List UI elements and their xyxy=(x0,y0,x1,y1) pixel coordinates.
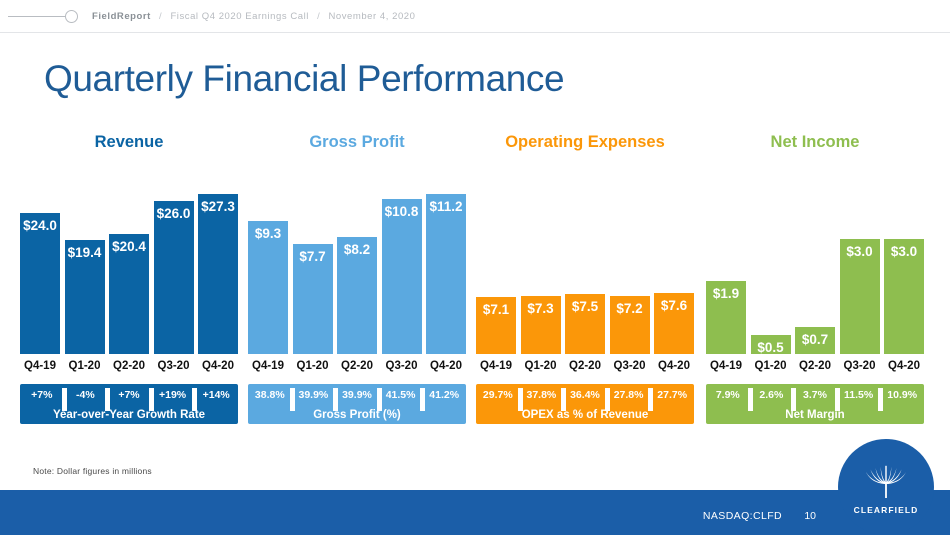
breadcrumb-brand: FieldReport xyxy=(92,11,151,22)
logo-badge: CLEARFIELD xyxy=(838,439,934,535)
x-axis-tick: Q4-20 xyxy=(884,360,924,372)
bar-value-label: $26.0 xyxy=(154,206,194,221)
header-divider xyxy=(0,32,950,33)
bar: $0.7 xyxy=(795,327,835,354)
bar-value-label: $20.4 xyxy=(109,239,149,254)
x-axis-gross-profit: Q4-19Q1-20Q2-20Q3-20Q4-20 xyxy=(248,356,466,376)
bar-value-label: $19.4 xyxy=(65,245,105,260)
x-axis-tick: Q2-20 xyxy=(565,360,605,372)
bar-value-label: $9.3 xyxy=(248,226,288,241)
x-axis-tick: Q3-20 xyxy=(840,360,880,372)
breadcrumb-separator-1: / xyxy=(159,11,162,22)
metric-strip-values-net-income: 7.9%2.6%3.7%11.5%10.9% xyxy=(706,384,924,406)
metric-strip-value: 27.8% xyxy=(607,389,651,401)
bar-value-label: $3.0 xyxy=(884,244,924,259)
bar-value-label: $7.5 xyxy=(565,299,605,314)
metric-strip-value: +14% xyxy=(194,389,238,401)
bar-value-label: $7.6 xyxy=(654,298,694,313)
bar-value-label: $11.2 xyxy=(426,199,466,214)
metric-strip-net-income: 7.9%2.6%3.7%11.5%10.9% Net Margin xyxy=(706,384,924,424)
plot-area-gross-profit: $9.3$7.7$8.2$10.8$11.2 xyxy=(248,178,466,354)
metric-strip-value: 41.5% xyxy=(379,389,423,401)
metric-strip-value: 7.9% xyxy=(706,389,750,401)
bar-column: $26.0 xyxy=(154,178,194,354)
x-axis-tick: Q3-20 xyxy=(382,360,422,372)
metric-strip-value: +7% xyxy=(107,389,151,401)
bar: $10.8 xyxy=(382,199,422,354)
metric-strip-value: 11.5% xyxy=(837,389,881,401)
bar-value-label: $7.1 xyxy=(476,302,516,317)
bar: $0.5 xyxy=(751,335,791,354)
chart-title-gross-profit: Gross Profit xyxy=(248,132,466,158)
bar: $9.3 xyxy=(248,221,288,354)
bar-value-label: $3.0 xyxy=(840,244,880,259)
bar: $27.3 xyxy=(198,194,238,354)
metric-strip-value: 2.6% xyxy=(750,389,794,401)
metric-strip-operating-expenses: 29.7%37.8%36.4%27.8%27.7% OPEX as % of R… xyxy=(476,384,694,424)
metric-strip-values-gross-profit: 38.8%39.9%39.9%41.5%41.2% xyxy=(248,384,466,406)
metric-strip-value: +7% xyxy=(20,389,64,401)
plot-area-operating-expenses: $7.1$7.3$7.5$7.2$7.6 xyxy=(476,178,694,354)
bar-column: $7.6 xyxy=(654,178,694,354)
bar-value-label: $10.8 xyxy=(382,204,422,219)
x-axis-tick: Q4-19 xyxy=(476,360,516,372)
metric-strip-label-net-income: Net Margin xyxy=(706,409,924,421)
chart-panel-net-income: Net Income $1.9$0.5$0.7$3.0$3.0 Q4-19Q1-… xyxy=(706,132,924,437)
footnote: Note: Dollar figures in millions xyxy=(33,466,152,476)
metric-strip-values-revenue: +7%-4%+7%+19%+14% xyxy=(20,384,238,406)
metric-strip-value: +19% xyxy=(151,389,195,401)
bar-column: $0.7 xyxy=(795,178,835,354)
bar: $7.7 xyxy=(293,244,333,354)
bar-value-label: $0.7 xyxy=(795,332,835,347)
clearfield-fan-icon xyxy=(863,465,909,504)
bar: $3.0 xyxy=(840,239,880,354)
bar-column: $3.0 xyxy=(884,178,924,354)
bar: $7.1 xyxy=(476,297,516,354)
slide-header: FieldReport / Fiscal Q4 2020 Earnings Ca… xyxy=(0,0,950,32)
x-axis-tick: Q1-20 xyxy=(293,360,333,372)
bar: $7.6 xyxy=(654,293,694,354)
bar-value-label: $0.5 xyxy=(751,340,791,355)
metric-strip-value: 10.9% xyxy=(880,389,924,401)
breadcrumb-item-event: Fiscal Q4 2020 Earnings Call xyxy=(170,11,308,22)
bar-column: $7.7 xyxy=(293,178,333,354)
header-rule xyxy=(8,16,66,17)
x-axis-tick: Q1-20 xyxy=(65,360,105,372)
clearfield-wordmark: CLEARFIELD xyxy=(838,505,934,515)
metric-strip-label-gross-profit: Gross Profit (%) xyxy=(248,409,466,421)
bar-value-label: $7.2 xyxy=(610,301,650,316)
bar-column: $7.2 xyxy=(610,178,650,354)
metric-strip-label-revenue: Year-over-Year Growth Rate xyxy=(20,409,238,421)
bar-value-label: $8.2 xyxy=(337,242,377,257)
metric-strip-value: 38.8% xyxy=(248,389,292,401)
metric-strip-value: 3.7% xyxy=(793,389,837,401)
x-axis-tick: Q2-20 xyxy=(795,360,835,372)
bar: $26.0 xyxy=(154,201,194,354)
metric-strip-value: 27.7% xyxy=(650,389,694,401)
bar-column: $20.4 xyxy=(109,178,149,354)
x-axis-tick: Q4-19 xyxy=(706,360,746,372)
bar: $7.2 xyxy=(610,296,650,354)
bar-column: $1.9 xyxy=(706,178,746,354)
bar-column: $7.1 xyxy=(476,178,516,354)
metric-strip-values-operating-expenses: 29.7%37.8%36.4%27.8%27.7% xyxy=(476,384,694,406)
x-axis-net-income: Q4-19Q1-20Q2-20Q3-20Q4-20 xyxy=(706,356,924,376)
x-axis-tick: Q2-20 xyxy=(109,360,149,372)
bar: $3.0 xyxy=(884,239,924,354)
bar-column: $27.3 xyxy=(198,178,238,354)
header-circle-icon xyxy=(65,10,78,23)
chart-panel-revenue: Revenue $24.0$19.4$20.4$26.0$27.3 Q4-19Q… xyxy=(20,132,238,437)
page-title: Quarterly Financial Performance xyxy=(44,58,564,100)
x-axis-tick: Q1-20 xyxy=(751,360,791,372)
metric-strip-value: 39.9% xyxy=(292,389,336,401)
bar: $19.4 xyxy=(65,240,105,354)
chart-panel-operating-expenses: Operating Expenses $7.1$7.3$7.5$7.2$7.6 … xyxy=(476,132,694,437)
x-axis-tick: Q4-19 xyxy=(20,360,60,372)
bar-column: $0.5 xyxy=(751,178,791,354)
bar-column: $24.0 xyxy=(20,178,60,354)
bar-column: $19.4 xyxy=(65,178,105,354)
x-axis-tick: Q1-20 xyxy=(521,360,561,372)
metric-strip-value: 36.4% xyxy=(563,389,607,401)
plot-area-net-income: $1.9$0.5$0.7$3.0$3.0 xyxy=(706,178,924,354)
x-axis-revenue: Q4-19Q1-20Q2-20Q3-20Q4-20 xyxy=(20,356,238,376)
x-axis-tick: Q2-20 xyxy=(337,360,377,372)
metric-strip-value: 37.8% xyxy=(520,389,564,401)
bar-column: $3.0 xyxy=(840,178,880,354)
breadcrumb-item-date: November 4, 2020 xyxy=(329,11,416,22)
bar: $24.0 xyxy=(20,213,60,354)
ticker-label: NASDAQ:CLFD xyxy=(703,510,782,522)
bar-value-label: $7.7 xyxy=(293,249,333,264)
bar: $20.4 xyxy=(109,234,149,354)
bar: $1.9 xyxy=(706,281,746,354)
chart-title-net-income: Net Income xyxy=(706,132,924,158)
metric-strip-value: 41.2% xyxy=(422,389,466,401)
bar-value-label: $24.0 xyxy=(20,218,60,233)
bar-column: $7.3 xyxy=(521,178,561,354)
bar: $8.2 xyxy=(337,237,377,354)
bar-value-label: $1.9 xyxy=(706,286,746,301)
metric-strip-label-operating-expenses: OPEX as % of Revenue xyxy=(476,409,694,421)
bar-column: $11.2 xyxy=(426,178,466,354)
x-axis-tick: Q4-20 xyxy=(198,360,238,372)
breadcrumb: FieldReport / Fiscal Q4 2020 Earnings Ca… xyxy=(92,11,415,22)
x-axis-tick: Q4-20 xyxy=(654,360,694,372)
x-axis-operating-expenses: Q4-19Q1-20Q2-20Q3-20Q4-20 xyxy=(476,356,694,376)
bar-column: $9.3 xyxy=(248,178,288,354)
chart-panel-gross-profit: Gross Profit $9.3$7.7$8.2$10.8$11.2 Q4-1… xyxy=(248,132,466,437)
page-number: 10 xyxy=(804,510,816,522)
slide: FieldReport / Fiscal Q4 2020 Earnings Ca… xyxy=(0,0,950,535)
bar-column: $8.2 xyxy=(337,178,377,354)
bar-value-label: $27.3 xyxy=(198,199,238,214)
plot-area-revenue: $24.0$19.4$20.4$26.0$27.3 xyxy=(20,178,238,354)
x-axis-tick: Q3-20 xyxy=(610,360,650,372)
bar-column: $10.8 xyxy=(382,178,422,354)
x-axis-tick: Q4-19 xyxy=(248,360,288,372)
metric-strip-gross-profit: 38.8%39.9%39.9%41.5%41.2% Gross Profit (… xyxy=(248,384,466,424)
bar-value-label: $7.3 xyxy=(521,301,561,316)
bar: $7.5 xyxy=(565,294,605,354)
metric-strip-revenue: +7%-4%+7%+19%+14% Year-over-Year Growth … xyxy=(20,384,238,424)
bar-column: $7.5 xyxy=(565,178,605,354)
x-axis-tick: Q3-20 xyxy=(154,360,194,372)
x-axis-tick: Q4-20 xyxy=(426,360,466,372)
charts-container: Revenue $24.0$19.4$20.4$26.0$27.3 Q4-19Q… xyxy=(0,132,950,437)
bar: $11.2 xyxy=(426,194,466,354)
chart-title-revenue: Revenue xyxy=(20,132,238,158)
chart-title-operating-expenses: Operating Expenses xyxy=(476,132,694,158)
metric-strip-value: 39.9% xyxy=(335,389,379,401)
metric-strip-value: -4% xyxy=(64,389,108,401)
metric-strip-value: 29.7% xyxy=(476,389,520,401)
bar: $7.3 xyxy=(521,296,561,354)
breadcrumb-separator-2: / xyxy=(317,11,320,22)
